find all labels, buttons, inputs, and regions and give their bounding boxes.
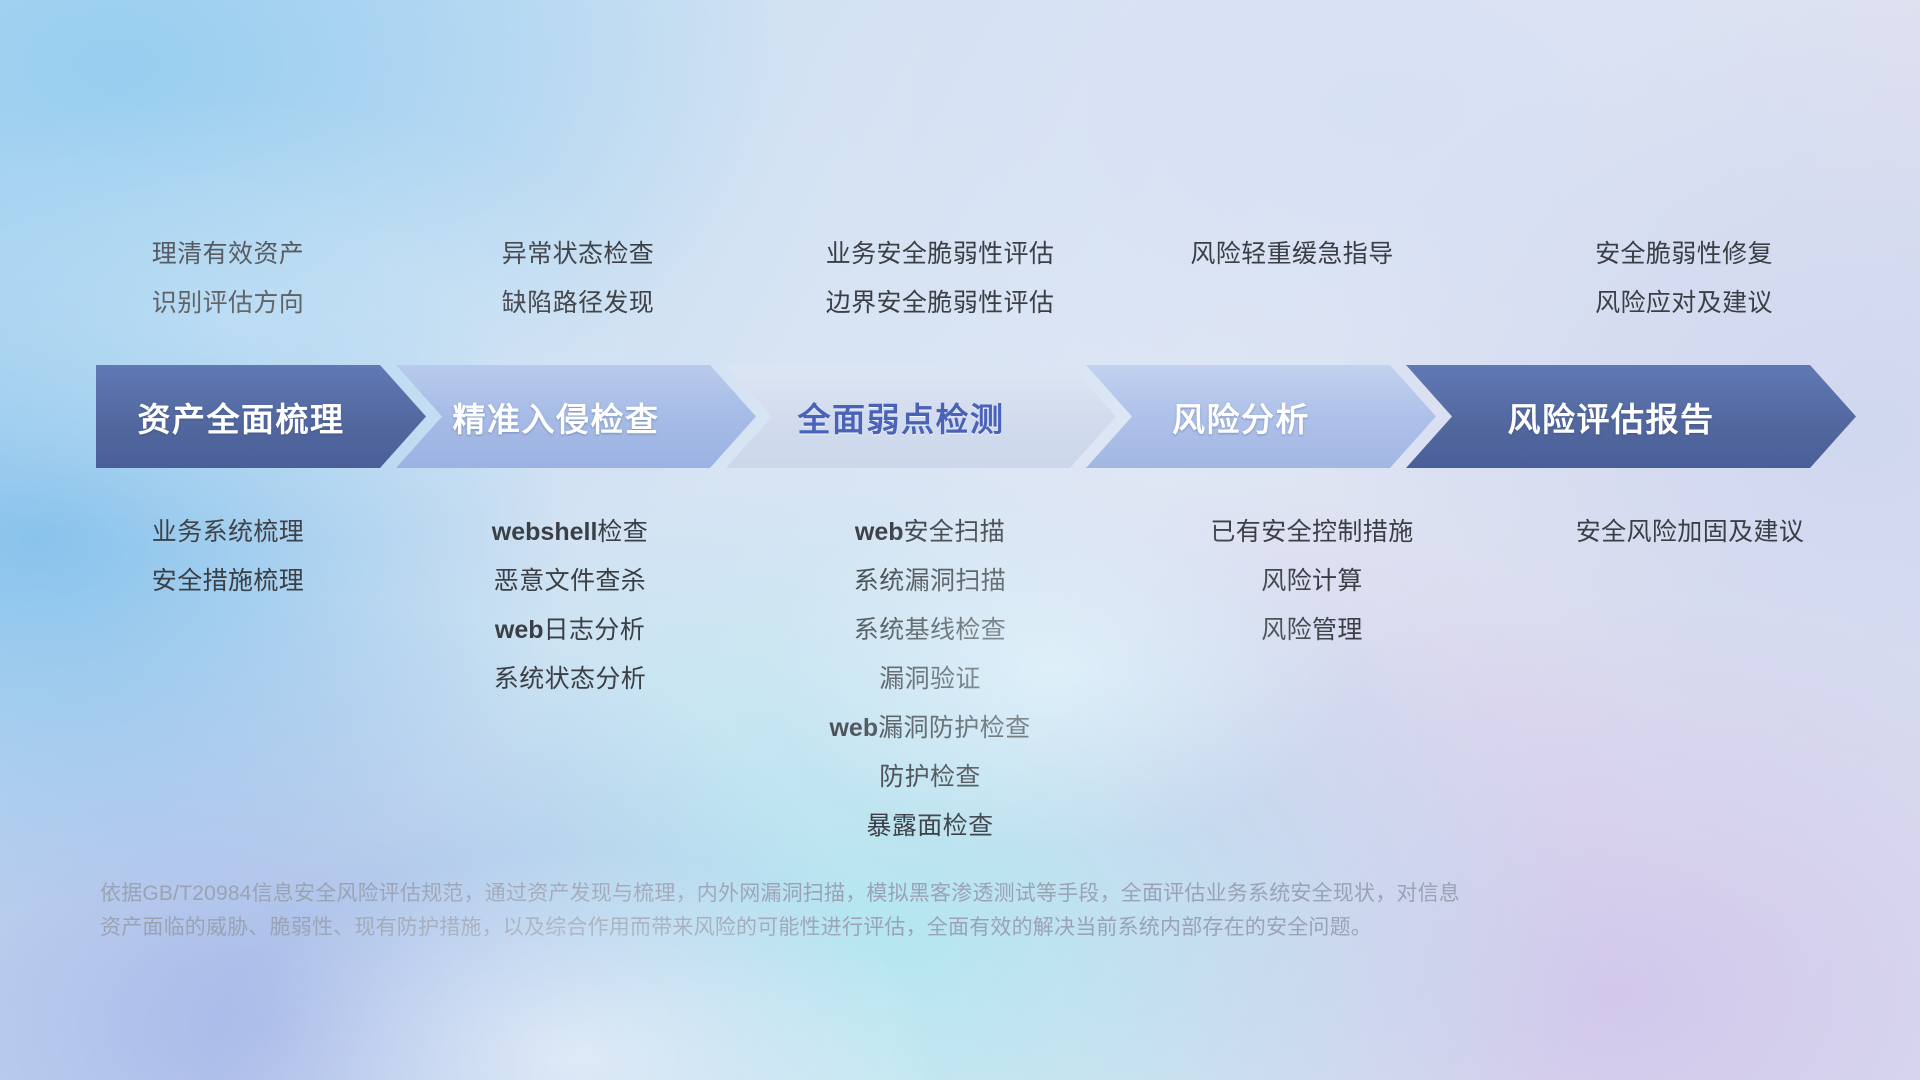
- top-item: 业务安全脆弱性评估: [826, 230, 1055, 279]
- bottom-item: 安全措施梳理: [152, 557, 304, 606]
- top-item: 异常状态检查: [502, 230, 654, 279]
- top-item: 识别评估方向: [152, 279, 304, 328]
- top-items-risk-analysis: 风险轻重缓急指导: [1190, 230, 1393, 279]
- bottom-item-text: 业务系统梳理: [152, 518, 304, 546]
- bottom-item-text: 系统漏洞扫描: [854, 567, 1006, 595]
- bottom-item-text: 日志分析: [544, 616, 646, 644]
- bottom-items-risk-analysis: 已有安全控制措施 风险计算 风险管理: [1210, 508, 1413, 655]
- bottom-item-text: 安全措施梳理: [152, 567, 304, 595]
- top-items-risk-report: 安全脆弱性修复 风险应对及建议: [1595, 230, 1773, 328]
- bottom-item-latin: web: [495, 616, 544, 644]
- top-item: 安全脆弱性修复: [1595, 230, 1773, 279]
- bottom-item: web安全扫描: [829, 508, 1030, 557]
- bottom-item: 风险计算: [1210, 557, 1413, 606]
- bottom-item: 暴露面检查: [829, 802, 1030, 851]
- stage-label: 全面弱点检测: [726, 393, 1116, 441]
- footer-line-1: 依据GB/T20984信息安全风险评估规范，通过资产发现与梳理，内外网漏洞扫描，…: [100, 877, 1660, 911]
- bottom-item: web日志分析: [492, 606, 648, 655]
- bottom-item-text: 检查: [597, 518, 648, 546]
- top-items-asset-review: 理清有效资产 识别评估方向: [152, 230, 304, 328]
- bottom-item-text: 防护检查: [879, 763, 981, 791]
- bottom-item: 系统状态分析: [492, 655, 648, 704]
- bottom-items-risk-report: 安全风险加固及建议: [1576, 508, 1805, 557]
- bottom-item: 系统漏洞扫描: [829, 557, 1030, 606]
- top-items-intrusion-check: 异常状态检查 缺陷路径发现: [502, 230, 654, 328]
- bottom-item: webshell检查: [492, 508, 648, 557]
- bottom-item-text: 漏洞验证: [879, 665, 981, 693]
- bottom-item-text: 暴露面检查: [866, 812, 993, 840]
- stage-arrow-risk-analysis[interactable]: 风险分析: [1086, 365, 1436, 468]
- bottom-item-text: 系统状态分析: [494, 665, 646, 693]
- bottom-item-text: 风险计算: [1261, 567, 1363, 595]
- bottom-item: 恶意文件查杀: [492, 557, 648, 606]
- stage-arrow-asset-review[interactable]: 资产全面梳理: [96, 365, 426, 468]
- top-item: 风险轻重缓急指导: [1190, 230, 1393, 279]
- bottom-item-text: 恶意文件查杀: [494, 567, 646, 595]
- bottom-items-weakness-detection: web安全扫描 系统漏洞扫描 系统基线检查 漏洞验证 web漏洞防护检查 防护检…: [829, 508, 1030, 851]
- stage-arrow-risk-report[interactable]: 风险评估报告: [1406, 365, 1856, 468]
- footer-line-2: 资产面临的威胁、脆弱性、现有防护措施，以及综合作用而带来风险的可能性进行评估，全…: [100, 911, 1660, 945]
- bottom-item: 系统基线检查: [829, 606, 1030, 655]
- stage-arrow-intrusion-check[interactable]: 精准入侵检查: [396, 365, 756, 468]
- bottom-item-latin: web: [855, 518, 904, 546]
- process-arrow-band: 资产全面梳理 精准入侵检查 全面弱点检测 风险分析 风险评估报告: [96, 365, 1856, 468]
- bottom-item: 漏洞验证: [829, 655, 1030, 704]
- bottom-items-intrusion-check: webshell检查 恶意文件查杀 web日志分析 系统状态分析: [492, 508, 648, 704]
- bottom-item: 防护检查: [829, 753, 1030, 802]
- bottom-item-latin: web: [829, 714, 878, 742]
- stage-label: 精准入侵检查: [396, 393, 756, 441]
- bottom-item-text: 安全风险加固及建议: [1576, 518, 1805, 546]
- top-item: 缺陷路径发现: [502, 279, 654, 328]
- top-item: 理清有效资产: [152, 230, 304, 279]
- stage-label: 风险分析: [1086, 393, 1436, 441]
- top-items-weakness-detection: 业务安全脆弱性评估 边界安全脆弱性评估: [826, 230, 1055, 328]
- bottom-item-text: 风险管理: [1261, 616, 1363, 644]
- bottom-item-latin: webshell: [492, 518, 598, 546]
- stage-label: 资产全面梳理: [96, 393, 426, 441]
- footer-description: 依据GB/T20984信息安全风险评估规范，通过资产发现与梳理，内外网漏洞扫描，…: [100, 877, 1660, 945]
- bottom-items-asset-review: 业务系统梳理 安全措施梳理: [152, 508, 304, 606]
- bottom-item: 安全风险加固及建议: [1576, 508, 1805, 557]
- stage-label: 风险评估报告: [1406, 393, 1856, 441]
- bottom-item-text: 已有安全控制措施: [1210, 518, 1413, 546]
- slide-canvas: 理清有效资产 识别评估方向 异常状态检查 缺陷路径发现 业务安全脆弱性评估 边界…: [0, 0, 1920, 1080]
- bottom-item-text: 漏洞防护检查: [878, 714, 1030, 742]
- stage-arrow-weakness-detection[interactable]: 全面弱点检测: [726, 365, 1116, 468]
- bottom-item: 风险管理: [1210, 606, 1413, 655]
- bottom-item-text: 安全扫描: [904, 518, 1006, 546]
- bottom-item: web漏洞防护检查: [829, 704, 1030, 753]
- bottom-item-text: 系统基线检查: [854, 616, 1006, 644]
- top-item: 边界安全脆弱性评估: [826, 279, 1055, 328]
- bottom-item: 已有安全控制措施: [1210, 508, 1413, 557]
- top-item: 风险应对及建议: [1595, 279, 1773, 328]
- bottom-item: 业务系统梳理: [152, 508, 304, 557]
